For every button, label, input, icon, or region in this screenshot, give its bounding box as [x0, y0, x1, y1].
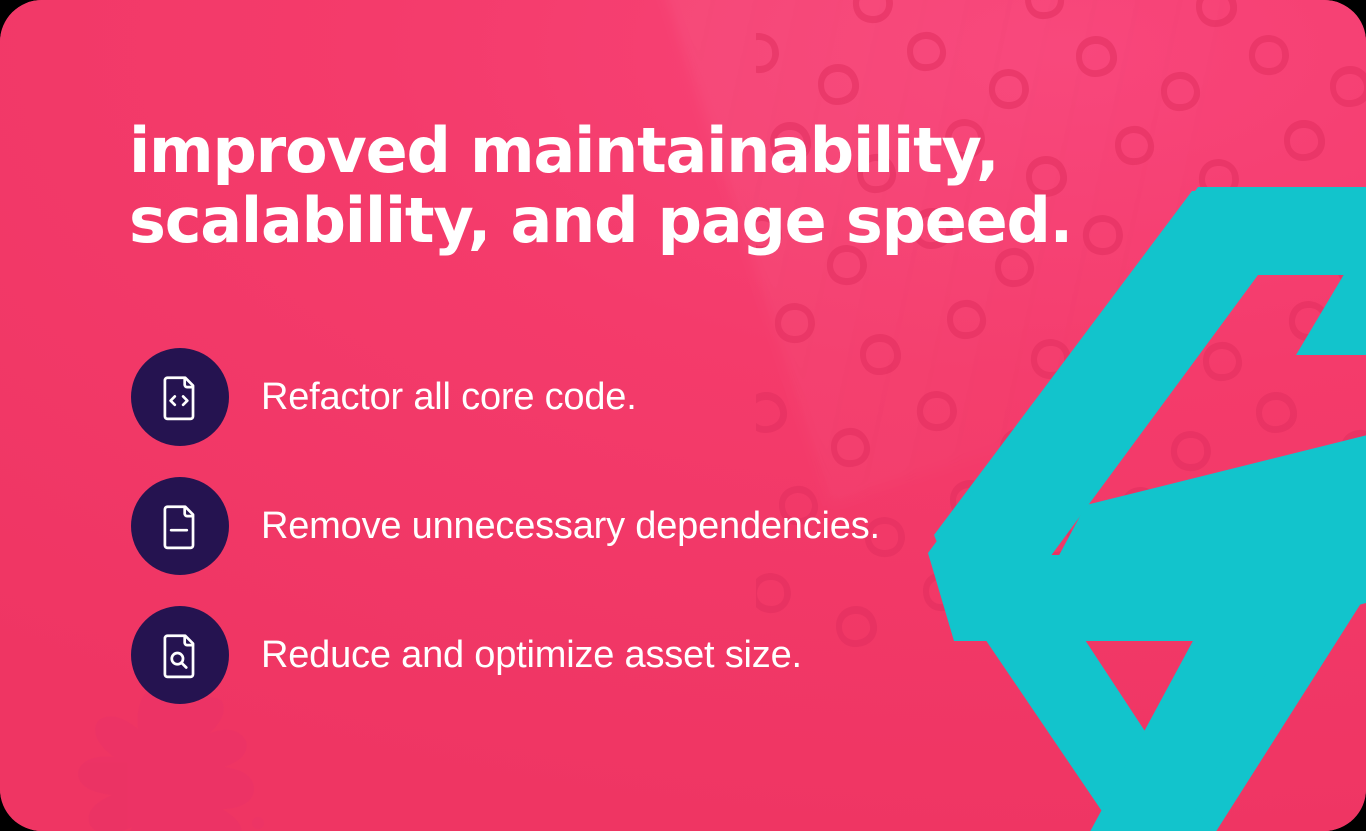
page-title: improved maintainability, scalability, a…	[129, 116, 1089, 256]
slide-card: improved maintainability, scalability, a…	[0, 0, 1366, 831]
list-item: Refactor all core code.	[131, 348, 880, 446]
page-title-line-2: scalability, and page speed.	[129, 186, 1089, 256]
slide-content: improved maintainability, scalability, a…	[0, 0, 1366, 831]
list-item-label: Reduce and optimize asset size.	[261, 633, 802, 677]
list-item-label: Remove unnecessary dependencies.	[261, 504, 880, 548]
page-title-line-1: improved maintainability,	[129, 116, 1089, 186]
list-item: Reduce and optimize asset size.	[131, 606, 880, 704]
file-code-icon	[131, 348, 229, 446]
file-search-icon	[131, 606, 229, 704]
list-item-label: Refactor all core code.	[261, 375, 637, 419]
file-minus-icon	[131, 477, 229, 575]
list-item: Remove unnecessary dependencies.	[131, 477, 880, 575]
bullet-list: Refactor all core code. Remove unnecessa…	[131, 348, 880, 704]
